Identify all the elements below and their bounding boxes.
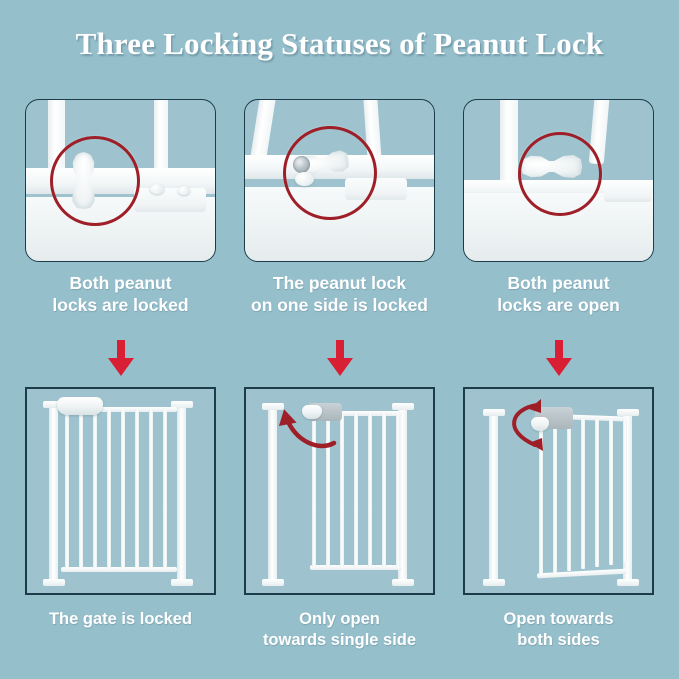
post-cap-top-right bbox=[617, 409, 639, 416]
post-cap-bottom-left bbox=[262, 579, 284, 586]
base-knob-a bbox=[150, 184, 164, 194]
gate-post-left bbox=[49, 403, 58, 583]
gate-bar bbox=[609, 419, 613, 565]
gate-illustration-row bbox=[0, 387, 679, 595]
gate-bar bbox=[163, 409, 167, 569]
lock-photo-both-locked bbox=[25, 99, 216, 262]
caption-line-2: towards single side bbox=[244, 630, 435, 651]
lock-photo-both-open bbox=[463, 99, 654, 262]
caption-both-open: Both peanut locks are open bbox=[463, 272, 654, 317]
gate-handle bbox=[57, 397, 103, 415]
caption-line-2: on one side is locked bbox=[244, 294, 435, 316]
gate-single-side-panel bbox=[244, 387, 435, 595]
gate-post-right bbox=[177, 403, 186, 583]
caption-line-2: locks are open bbox=[463, 294, 654, 316]
down-arrow-icon bbox=[108, 340, 134, 376]
arrow-stem bbox=[336, 340, 344, 360]
highlight-circle bbox=[283, 126, 377, 220]
gate-bar bbox=[354, 413, 358, 567]
swing-arrow-left-icon bbox=[272, 403, 344, 453]
lock-status-photo-row bbox=[0, 99, 679, 262]
lock-caption-row: Both peanut locks are locked The peanut … bbox=[0, 272, 679, 317]
arrow-cell-1 bbox=[25, 340, 216, 376]
gate-bar bbox=[65, 409, 69, 569]
base-bracket bbox=[134, 188, 206, 212]
gate-post-right bbox=[154, 100, 168, 170]
gate-bar bbox=[107, 409, 111, 569]
gate-bar bbox=[135, 409, 139, 569]
arrow-head bbox=[546, 358, 572, 376]
arrow-stem bbox=[555, 340, 563, 360]
gate-both-sides-panel bbox=[463, 387, 654, 595]
gate-bar bbox=[93, 409, 97, 569]
gate-bottom-rail bbox=[537, 569, 627, 579]
lock-photo-3-scene bbox=[464, 100, 653, 261]
gate-bar bbox=[396, 413, 400, 567]
gate-bar bbox=[567, 419, 571, 571]
gate-bar bbox=[382, 413, 386, 567]
gate-bar bbox=[595, 419, 599, 567]
caption-both-locked: Both peanut locks are locked bbox=[25, 272, 216, 317]
gate-post-left bbox=[500, 100, 518, 188]
highlight-circle bbox=[50, 136, 140, 226]
caption-line-1: Both peanut bbox=[25, 272, 216, 294]
caption-line-1: The gate is locked bbox=[25, 609, 216, 630]
arrow-cell-2 bbox=[244, 340, 435, 376]
arrow-cell-3 bbox=[463, 340, 654, 376]
down-arrow-icon bbox=[546, 340, 572, 376]
gate-bar bbox=[581, 419, 585, 569]
caption-line-1: The peanut lock bbox=[244, 272, 435, 294]
caption-line-2: both sides bbox=[463, 630, 654, 651]
arrow-stem bbox=[117, 340, 125, 360]
down-arrow-icon bbox=[327, 340, 353, 376]
base-bracket bbox=[604, 184, 652, 202]
post-cap-bottom-left bbox=[483, 579, 505, 586]
gate-bar bbox=[79, 409, 83, 569]
arrow-row bbox=[0, 340, 679, 376]
lock-photo-1-scene bbox=[26, 100, 215, 261]
page-title: Three Locking Statuses of Peanut Lock bbox=[0, 26, 679, 62]
caption-one-side-locked: The peanut lock on one side is locked bbox=[244, 272, 435, 317]
caption-line-1: Both peanut bbox=[463, 272, 654, 294]
post-cap-bottom-right bbox=[617, 579, 639, 586]
post-cap-bottom-right bbox=[392, 579, 414, 586]
arrow-head bbox=[327, 358, 353, 376]
caption-gate-single-side: Only open towards single side bbox=[244, 609, 435, 651]
swing-arrow-both-icon bbox=[493, 395, 563, 461]
post-cap-bottom-left bbox=[43, 579, 65, 586]
gate-bar bbox=[149, 409, 153, 569]
base-knob-b bbox=[178, 186, 190, 195]
gate-caption-row: The gate is locked Only open towards sin… bbox=[0, 609, 679, 651]
caption-line-1: Only open bbox=[244, 609, 435, 630]
post-cap-bottom-right bbox=[171, 579, 193, 586]
gate-bar bbox=[121, 409, 125, 569]
gate-locked-panel bbox=[25, 387, 216, 595]
gate-bar bbox=[368, 413, 372, 567]
caption-gate-both-sides: Open towards both sides bbox=[463, 609, 654, 651]
caption-line-1: Open towards bbox=[463, 609, 654, 630]
post-cap-top-right bbox=[392, 403, 414, 410]
caption-gate-locked: The gate is locked bbox=[25, 609, 216, 651]
lock-photo-2-scene bbox=[245, 100, 434, 261]
arrow-head bbox=[108, 358, 134, 376]
lock-photo-one-side-locked bbox=[244, 99, 435, 262]
caption-line-2: locks are locked bbox=[25, 294, 216, 316]
highlight-circle bbox=[518, 132, 602, 216]
gate-bar bbox=[623, 419, 627, 563]
